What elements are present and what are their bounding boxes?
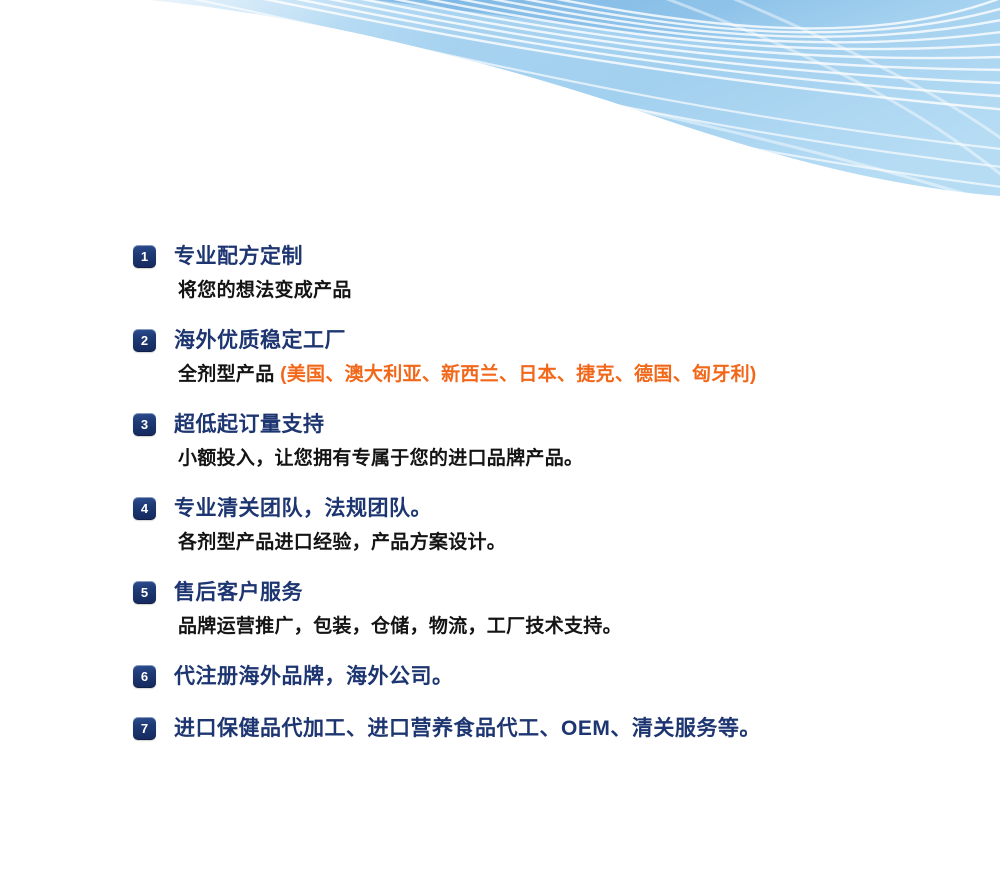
feature-subtitle: 各剂型产品进口经验，产品方案设计。	[178, 529, 973, 557]
feature-item-1: 1 专业配方定制 将您的想法变成产品	[133, 243, 973, 305]
feature-subtitle-plain: 品牌运营推广，包装，仓储，物流，工厂技术支持。	[178, 616, 622, 637]
number-badge-icon: 7	[133, 717, 156, 740]
feature-subtitle-plain: 小额投入，让您拥有专属于您的进口品牌产品。	[178, 448, 583, 469]
feature-subtitle-plain: 将您的想法变成产品	[178, 280, 352, 301]
feature-title: 售后客户服务	[174, 579, 973, 607]
wave-shape	[0, 0, 1000, 215]
number-badge-icon: 4	[133, 497, 156, 520]
feature-item-6: 6 代注册海外品牌，海外公司。	[133, 663, 973, 691]
number-badge-icon: 3	[133, 413, 156, 436]
feature-list: 1 专业配方定制 将您的想法变成产品 2 海外优质稳定工厂 全剂型产品 (美国、…	[133, 243, 973, 743]
number-badge-icon: 6	[133, 665, 156, 688]
feature-title: 超低起订量支持	[174, 411, 973, 439]
number-badge-icon: 2	[133, 329, 156, 352]
promo-page: 1 专业配方定制 将您的想法变成产品 2 海外优质稳定工厂 全剂型产品 (美国、…	[0, 0, 1000, 896]
number-badge-icon: 5	[133, 581, 156, 604]
feature-item-3: 3 超低起订量支持 小额投入，让您拥有专属于您的进口品牌产品。	[133, 411, 973, 473]
feature-item-2: 2 海外优质稳定工厂 全剂型产品 (美国、澳大利亚、新西兰、日本、捷克、德国、匈…	[133, 327, 973, 389]
feature-subtitle: 品牌运营推广，包装，仓储，物流，工厂技术支持。	[178, 613, 973, 641]
feature-item-4: 4 专业清关团队，法规团队。 各剂型产品进口经验，产品方案设计。	[133, 495, 973, 557]
feature-subtitle: 将您的想法变成产品	[178, 277, 973, 305]
feature-item-7: 7 进口保健品代加工、进口营养食品代工、OEM、清关服务等。	[133, 715, 973, 743]
feature-title: 专业清关团队，法规团队。	[174, 495, 973, 523]
feature-subtitle-plain: 全剂型产品	[178, 364, 280, 385]
feature-title: 海外优质稳定工厂	[174, 327, 973, 355]
feature-subtitle-plain: 各剂型产品进口经验，产品方案设计。	[178, 532, 506, 553]
feature-title: 专业配方定制	[174, 243, 973, 271]
feature-title: 进口保健品代加工、进口营养食品代工、OEM、清关服务等。	[174, 715, 973, 743]
feature-title: 代注册海外品牌，海外公司。	[174, 663, 973, 691]
feature-item-5: 5 售后客户服务 品牌运营推广，包装，仓储，物流，工厂技术支持。	[133, 579, 973, 641]
number-badge-icon: 1	[133, 245, 156, 268]
feature-subtitle: 小额投入，让您拥有专属于您的进口品牌产品。	[178, 445, 973, 473]
decorative-wave-banner	[0, 0, 1000, 215]
feature-subtitle-accent: (美国、澳大利亚、新西兰、日本、捷克、德国、匈牙利)	[280, 364, 756, 385]
feature-subtitle: 全剂型产品 (美国、澳大利亚、新西兰、日本、捷克、德国、匈牙利)	[178, 361, 973, 389]
